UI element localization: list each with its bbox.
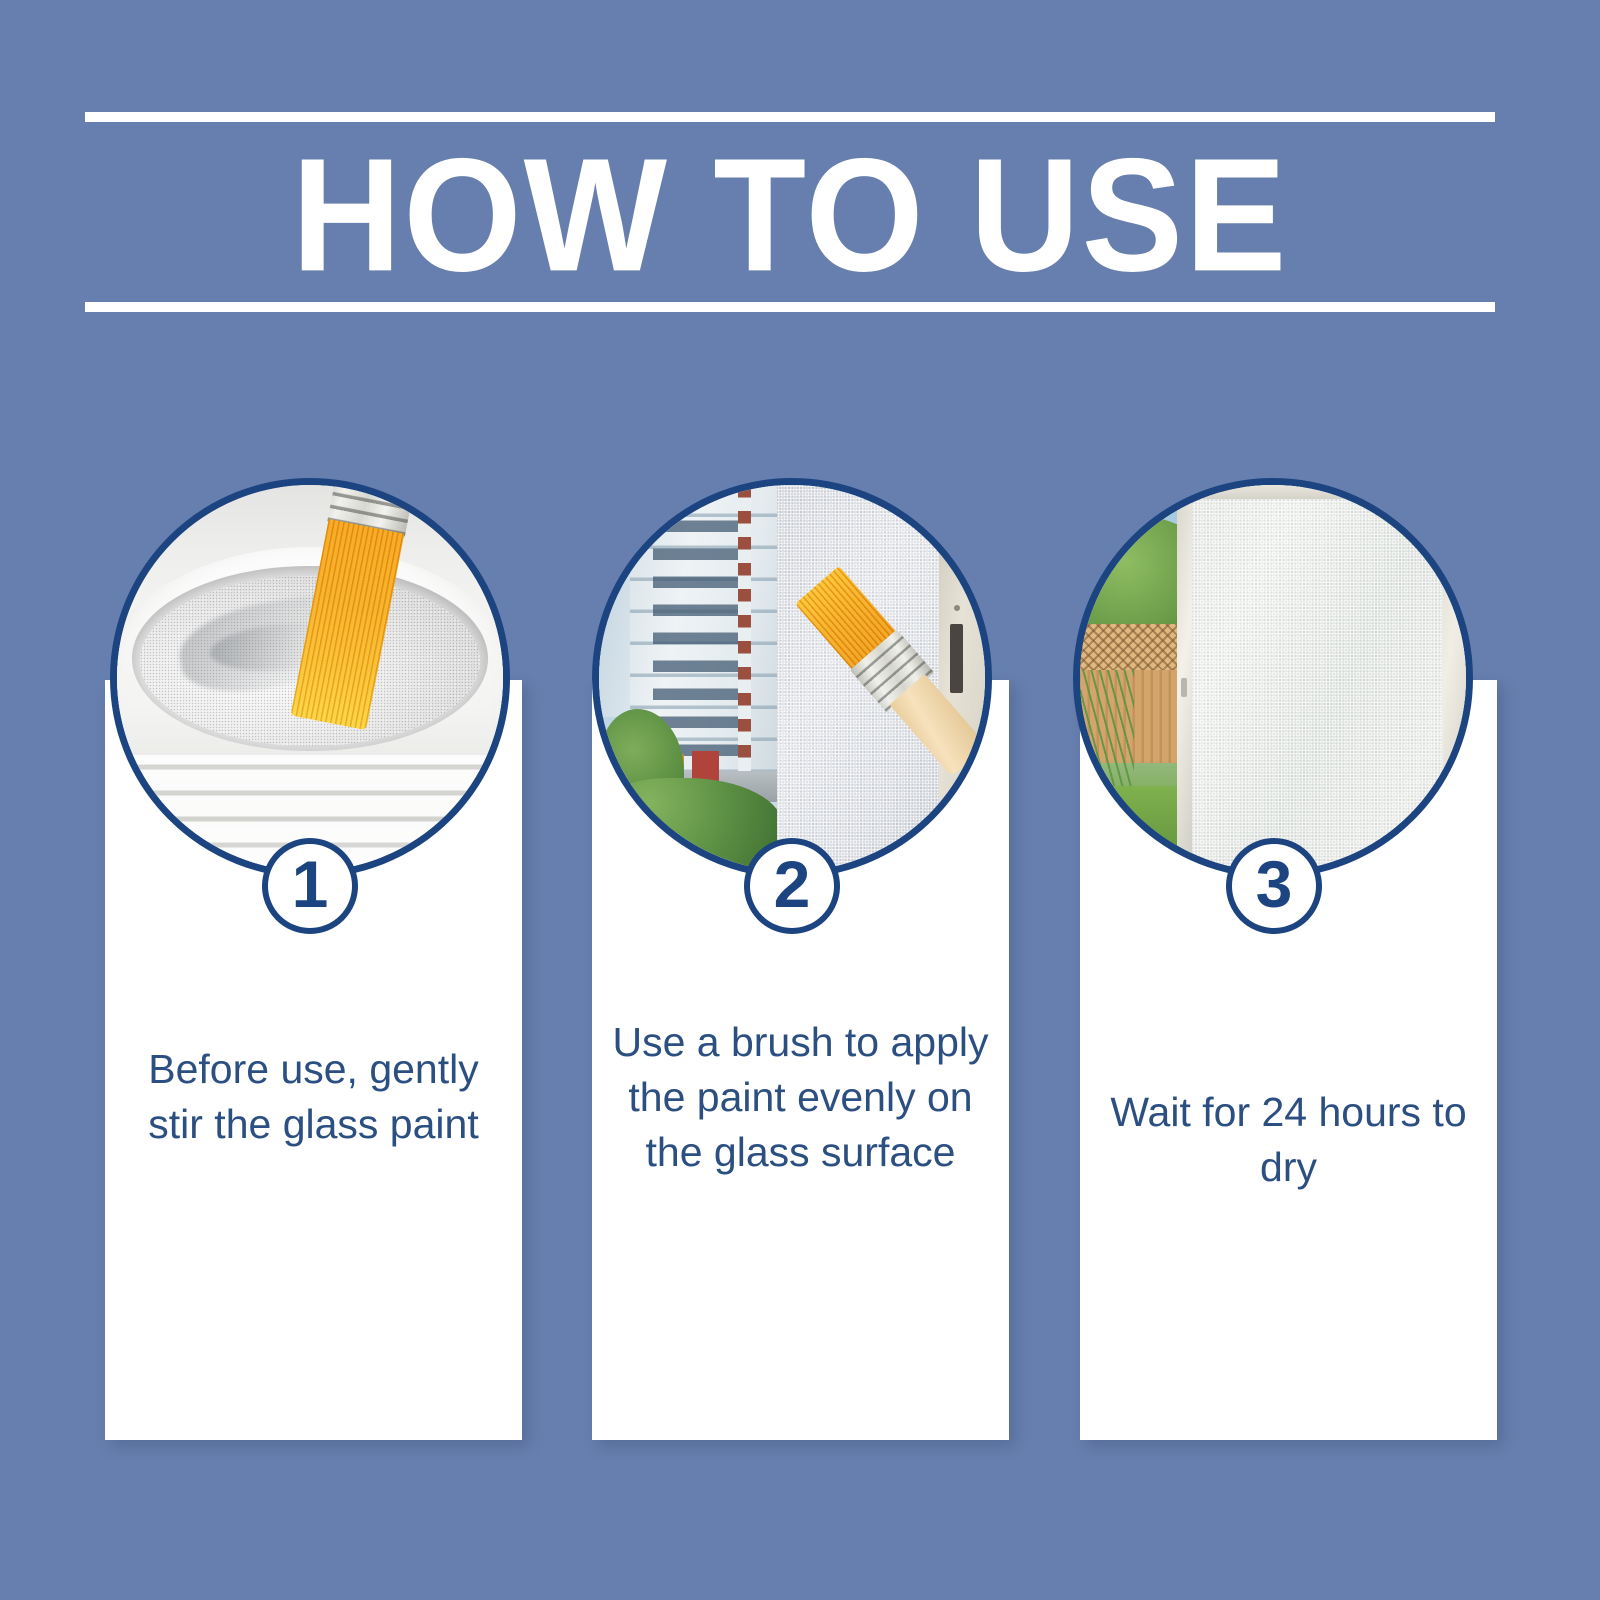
garden-plant — [1080, 670, 1134, 786]
step-1-photo-art — [117, 485, 503, 871]
step-2-photo-art — [599, 485, 985, 871]
step-caption-1: Before use, gently stir the glass paint — [105, 1042, 522, 1152]
steps-container: 1 Before use, gently stir the glass pain… — [0, 0, 1600, 1600]
frosted-glass-panel — [1184, 485, 1466, 871]
step-number-badge-3: 3 — [1226, 838, 1322, 934]
step-caption-2: Use a brush to apply the paint evenly on… — [592, 1015, 1009, 1180]
step-number-badge-2: 2 — [744, 838, 840, 934]
step-number-1: 1 — [292, 851, 329, 917]
step-3-photo-art — [1080, 485, 1466, 871]
step-number-3: 3 — [1256, 851, 1293, 917]
background-building — [599, 516, 634, 717]
step-1-photo — [110, 478, 510, 878]
window-latch-icon — [950, 624, 963, 693]
step-caption-3: Wait for 24 hours to dry — [1080, 1085, 1497, 1195]
door-right-stile — [1443, 485, 1466, 871]
door-top-rail — [1177, 485, 1467, 499]
step-number-2: 2 — [774, 851, 811, 917]
building-stripe — [738, 485, 752, 778]
step-3-photo — [1073, 478, 1473, 878]
door-handle-icon — [1181, 678, 1187, 697]
step-number-badge-1: 1 — [262, 838, 358, 934]
step-2-photo — [592, 478, 992, 878]
